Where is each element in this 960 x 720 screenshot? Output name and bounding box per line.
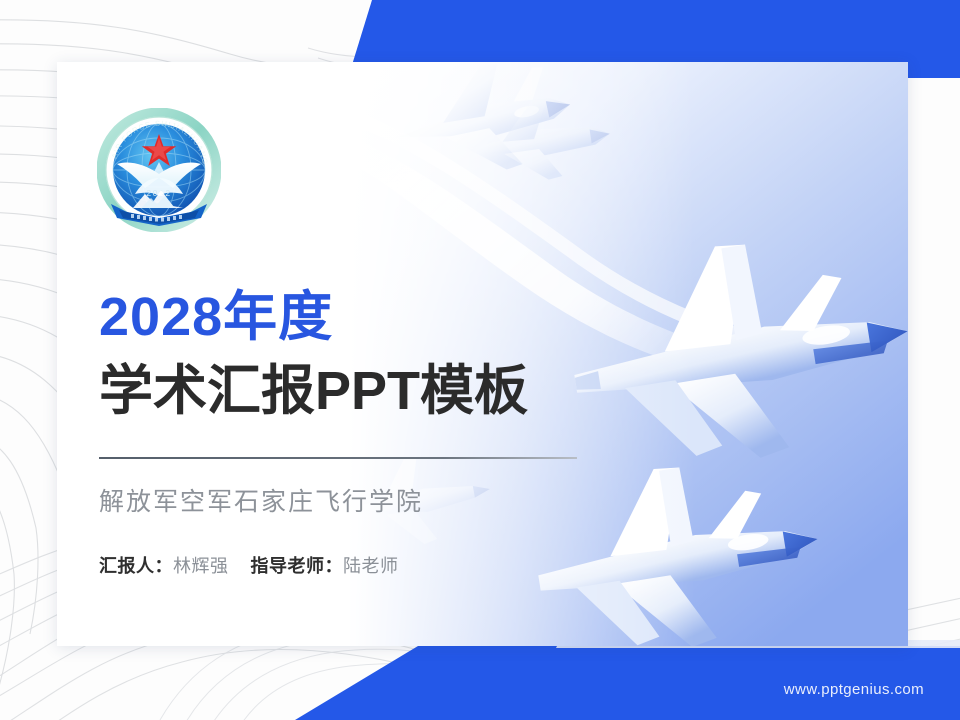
page-title-year: 2028年度 bbox=[99, 290, 333, 344]
reporter-value: 林辉强 bbox=[173, 556, 229, 576]
advisor-label: 指导老师 bbox=[251, 556, 325, 576]
slide-card: AIR FORCE SHIJIAZHUANG FLIGHT COLLEGE 20… bbox=[57, 62, 908, 646]
page-title-main: 学术汇报PPT模板 bbox=[99, 364, 528, 418]
presenter-line: 汇报人：林辉强指导老师：陆老师 bbox=[99, 552, 399, 578]
organization-subtitle: 解放军空军石家庄飞行学院 bbox=[99, 482, 423, 518]
footer-website-url[interactable]: www.pptgenius.com bbox=[784, 681, 924, 698]
title-divider bbox=[99, 457, 577, 459]
title-text-block: AIR FORCE SHIJIAZHUANG FLIGHT COLLEGE 20… bbox=[97, 62, 617, 646]
college-emblem-logo: AIR FORCE SHIJIAZHUANG FLIGHT COLLEGE 20… bbox=[97, 108, 221, 232]
reporter-label: 汇报人 bbox=[99, 556, 155, 576]
advisor-separator: ： bbox=[325, 556, 344, 576]
advisor-value: 陆老师 bbox=[343, 556, 399, 576]
presentation-title-slide: AIR FORCE SHIJIAZHUANG FLIGHT COLLEGE 20… bbox=[0, 0, 960, 720]
reporter-separator: ： bbox=[155, 556, 174, 576]
